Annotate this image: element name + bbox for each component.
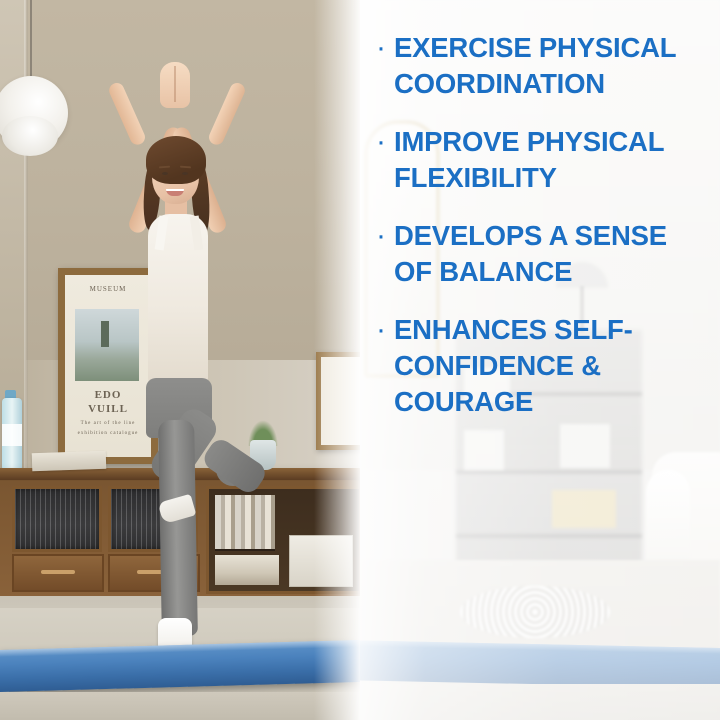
bullet-balance-text: DEVELOPS A SENSE OF BALANCE — [394, 218, 706, 290]
bullet-flexibility: · IMPROVE PHYSICAL FLEXIBILITY — [376, 124, 706, 196]
floor-foreground — [0, 692, 360, 720]
left-forearm — [107, 81, 148, 147]
bullet-dot-icon: · — [376, 124, 386, 160]
bullet-confidence: · ENHANCES SELF-CONFIDENCE & COURAGE — [376, 312, 706, 420]
bullet-coordination: · EXERCISE PHYSICAL COORDINATION — [376, 30, 706, 102]
lifestyle-photo: MUSEUM EDO VUILL The art of the line exh… — [0, 0, 360, 720]
bent-leg-shin — [200, 435, 269, 496]
bullet-dot-icon: · — [376, 312, 386, 348]
bullet-coordination-text: EXERCISE PHYSICAL COORDINATION — [394, 30, 706, 102]
eye-right — [182, 172, 188, 175]
bullet-flexibility-text: IMPROVE PHYSICAL FLEXIBILITY — [394, 124, 706, 196]
bullet-balance: · DEVELOPS A SENSE OF BALANCE — [376, 218, 706, 290]
bullet-dot-icon: · — [376, 30, 386, 66]
hair-top — [146, 136, 206, 184]
feature-bullet-list: · EXERCISE PHYSICAL COORDINATION · IMPRO… — [376, 30, 706, 442]
prayer-hands — [160, 62, 190, 108]
right-forearm — [207, 81, 248, 147]
bullet-dot-icon: · — [376, 218, 386, 254]
bullet-confidence-text: ENHANCES SELF-CONFIDENCE & COURAGE — [394, 312, 706, 420]
product-feature-image: MUSEUM EDO VUILL The art of the line exh… — [0, 0, 720, 720]
woman-in-tree-pose — [0, 0, 360, 720]
photo-edge-fade — [314, 0, 360, 720]
standing-leg — [158, 420, 198, 637]
eye-left — [162, 172, 168, 175]
